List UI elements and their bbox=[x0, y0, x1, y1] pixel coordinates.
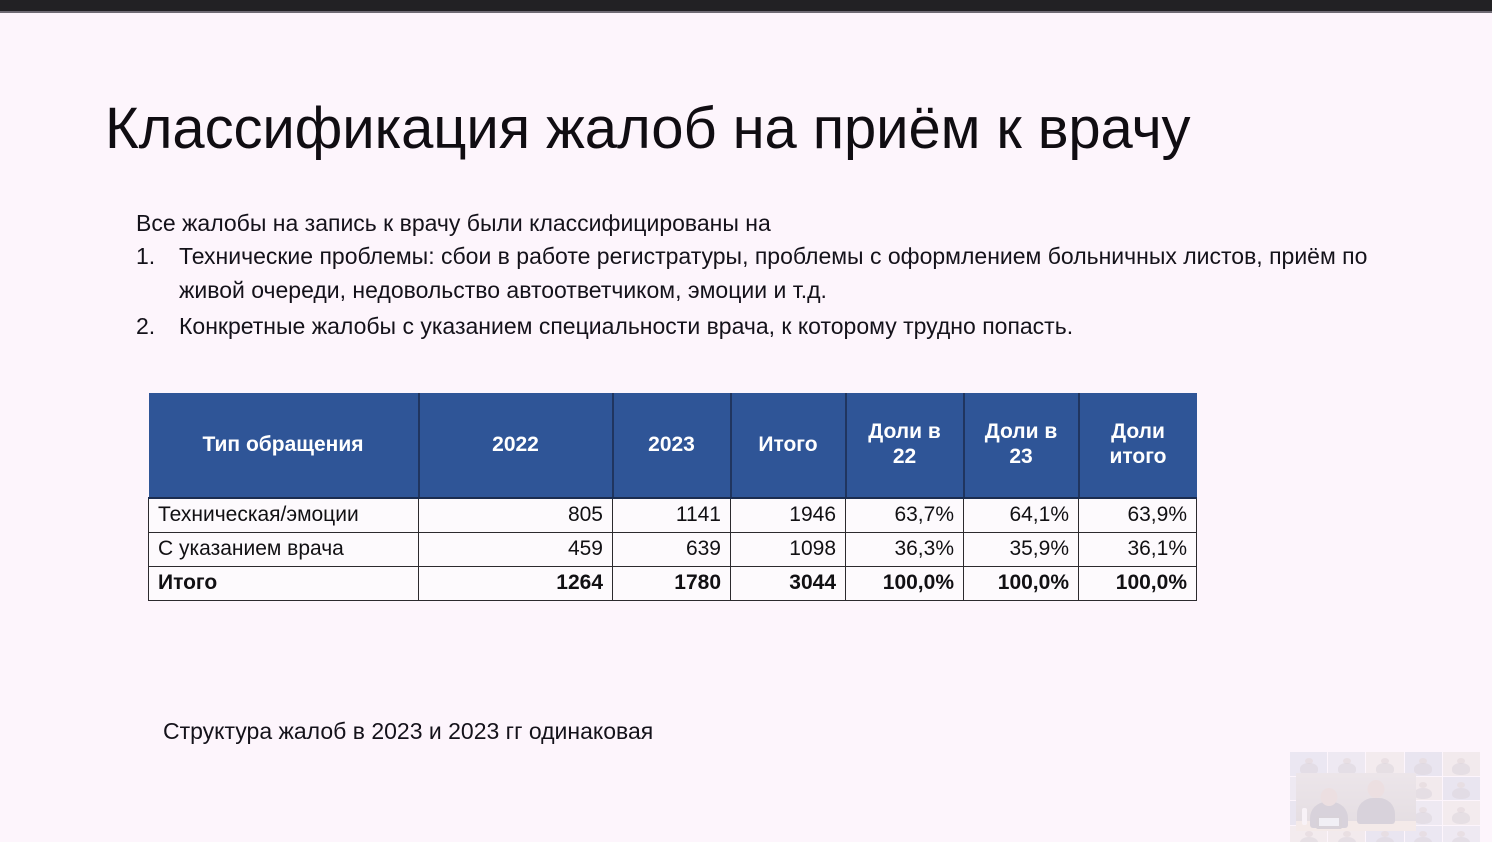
video-tile bbox=[1443, 777, 1480, 801]
cell-share-23: 100,0% bbox=[964, 566, 1079, 600]
column-header-share-total: Доли итого bbox=[1079, 393, 1197, 498]
cell-total: 1946 bbox=[731, 498, 846, 532]
video-tile bbox=[1443, 752, 1480, 776]
list-item-marker: 1. bbox=[136, 240, 166, 274]
cell-share-23: 35,9% bbox=[964, 532, 1079, 566]
video-main-speaker-tile bbox=[1296, 773, 1416, 831]
classification-list: 1. Технические проблемы: сбои в работе р… bbox=[136, 240, 1376, 345]
column-header-2022: 2022 bbox=[419, 393, 613, 498]
cell-share-total: 100,0% bbox=[1079, 566, 1197, 600]
cell-2022: 459 bbox=[419, 532, 613, 566]
cell-2023: 639 bbox=[613, 532, 731, 566]
video-tile bbox=[1366, 752, 1403, 776]
cell-share-total: 63,9% bbox=[1079, 498, 1197, 532]
participant-head bbox=[1321, 788, 1338, 806]
participant-silhouette bbox=[1355, 780, 1397, 824]
table-body: Техническая/эмоции 805 1141 1946 63,7% 6… bbox=[149, 498, 1197, 600]
list-item: 2. Конкретные жалобы с указанием специал… bbox=[136, 310, 1376, 344]
slide-caption: Структура жалоб в 2023 и 2023 гг одинако… bbox=[163, 718, 653, 745]
column-header-share-23: Доли в 23 bbox=[964, 393, 1079, 498]
column-header-share-22: Доли в 22 bbox=[846, 393, 964, 498]
list-item-text: Конкретные жалобы с указанием специально… bbox=[179, 313, 1073, 339]
list-item-text: Технические проблемы: сбои в работе реги… bbox=[179, 243, 1367, 303]
window-topbar bbox=[0, 0, 1492, 11]
participant-head bbox=[1368, 780, 1385, 798]
list-item-marker: 2. bbox=[136, 310, 166, 344]
video-tile bbox=[1443, 801, 1480, 825]
list-item: 1. Технические проблемы: сбои в работе р… bbox=[136, 240, 1376, 308]
cell-share-23: 64,1% bbox=[964, 498, 1079, 532]
column-header-2023: 2023 bbox=[613, 393, 731, 498]
cell-total: 1098 bbox=[731, 532, 846, 566]
video-tile bbox=[1328, 752, 1365, 776]
table-header: Тип обращения 2022 2023 Итого Доли в 22 … bbox=[149, 393, 1197, 498]
cell-share-22: 100,0% bbox=[846, 566, 964, 600]
laptop-icon bbox=[1316, 816, 1342, 829]
table-header-row: Тип обращения 2022 2023 Итого Доли в 22 … bbox=[149, 393, 1197, 498]
cell-share-22: 63,7% bbox=[846, 498, 964, 532]
cell-share-total: 36,1% bbox=[1079, 532, 1197, 566]
page-title: Классификация жалоб на приём к врачу bbox=[105, 97, 1395, 161]
video-tile bbox=[1290, 752, 1327, 776]
cell-2023: 1141 bbox=[613, 498, 731, 532]
intro-paragraph: Все жалобы на запись к врачу были класси… bbox=[136, 208, 771, 239]
cell-2023: 1780 bbox=[613, 566, 731, 600]
water-bottle bbox=[1302, 808, 1307, 825]
table-row: С указанием врача 459 639 1098 36,3% 35,… bbox=[149, 532, 1197, 566]
cell-total: 3044 bbox=[731, 566, 846, 600]
table-row: Техническая/эмоции 805 1141 1946 63,7% 6… bbox=[149, 498, 1197, 532]
cell-2022: 805 bbox=[419, 498, 613, 532]
video-conference-overlay bbox=[1290, 752, 1480, 842]
laptop-screen bbox=[1319, 818, 1339, 826]
cell-type: Итого bbox=[149, 566, 419, 600]
cell-share-22: 36,3% bbox=[846, 532, 964, 566]
slide-screen: Классификация жалоб на приём к врачу Все… bbox=[0, 0, 1492, 842]
complaints-table-container: Тип обращения 2022 2023 Итого Доли в 22 … bbox=[148, 393, 1197, 601]
presentation-slide: Классификация жалоб на приём к врачу Все… bbox=[0, 13, 1492, 842]
column-header-total: Итого bbox=[731, 393, 846, 498]
video-tile bbox=[1443, 826, 1480, 842]
complaints-table: Тип обращения 2022 2023 Итого Доли в 22 … bbox=[148, 393, 1197, 601]
cell-type: С указанием врача bbox=[149, 532, 419, 566]
cell-2022: 1264 bbox=[419, 566, 613, 600]
video-tile bbox=[1405, 752, 1442, 776]
participant-body bbox=[1357, 798, 1395, 824]
cell-type: Техническая/эмоции bbox=[149, 498, 419, 532]
column-header-type: Тип обращения bbox=[149, 393, 419, 498]
table-total-row: Итого 1264 1780 3044 100,0% 100,0% 100,0… bbox=[149, 566, 1197, 600]
